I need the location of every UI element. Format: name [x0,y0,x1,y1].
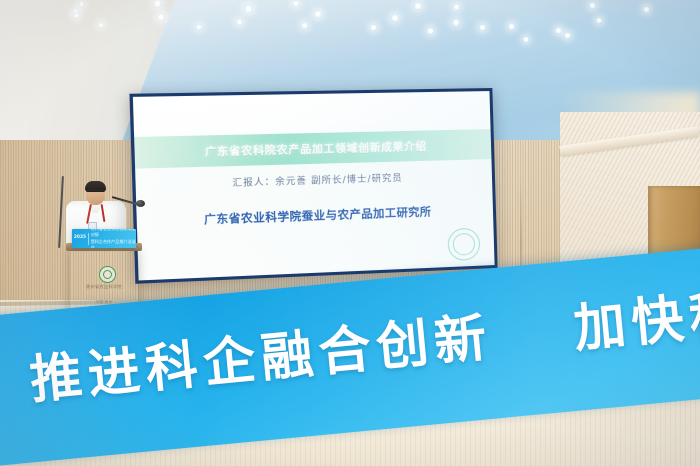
downlight-icon [98,22,104,28]
lectern-sign-line1: 贵州省农业科技创新成果对接 [91,229,136,239]
downlight-icon [596,17,602,23]
downlight-icon [196,24,202,30]
downlight-icon [293,0,300,7]
eyeglasses-icon [87,190,104,195]
slide-organization: 广东省农业科学院蚕业与农产品加工研究所 [136,201,493,230]
conference-hall-photo: 广东省农科院农产品加工领域创新成果介绍 汇报人：余元善 副所长/博士/研究员 广… [0,0,700,466]
downlight-icon [564,32,571,39]
downlight-icon [589,2,596,9]
downlight-icon [301,22,308,29]
slide-presenter-line: 汇报人：余元善 副所长/博士/研究员 [135,168,492,192]
downlight-icon [157,13,164,20]
downlight-icon [153,0,162,8]
lectern-panel-text-main: 贵州省农业科学院 [74,284,134,290]
downlight-icon [523,36,529,42]
banner-text-part2: 加快科技成 [571,273,700,360]
downlight-icon [452,19,459,26]
lectern-sign-year: 2025 [72,236,88,240]
slide-title-band: 广东省农科院农产品加工领域创新成果介绍 [134,129,491,168]
institute-round-emblem-icon [447,228,480,261]
projection-screen-surface: 广东省农科院农产品加工领域创新成果介绍 汇报人：余元善 副所长/博士/研究员 广… [133,91,495,280]
downlight-icon [414,2,422,10]
lectern-sign-line2: 暨科企合作产品推介洽谈会 [91,239,136,249]
lectern-event-sign: 2025 贵州省农业科技创新成果对接 暨科企合作产品推介洽谈会 [72,229,136,248]
downlight-icon [555,27,562,34]
lectern-sign-text: 贵州省农业科技创新成果对接 暨科企合作产品推介洽谈会 [89,229,136,248]
projection-screen: 广东省农科院农产品加工领域创新成果介绍 汇报人：余元善 副所长/博士/研究员 广… [129,88,497,284]
downlight-icon [78,1,84,7]
academy-round-emblem-icon [99,266,116,283]
slide-title: 广东省农科院农产品加工领域创新成果介绍 [205,138,427,159]
banner-text-gap [518,349,552,352]
downlight-icon [244,5,252,13]
downlight-icon [453,4,459,10]
downlight-icon [508,23,515,30]
gooseneck-microphone-icon [136,200,145,207]
